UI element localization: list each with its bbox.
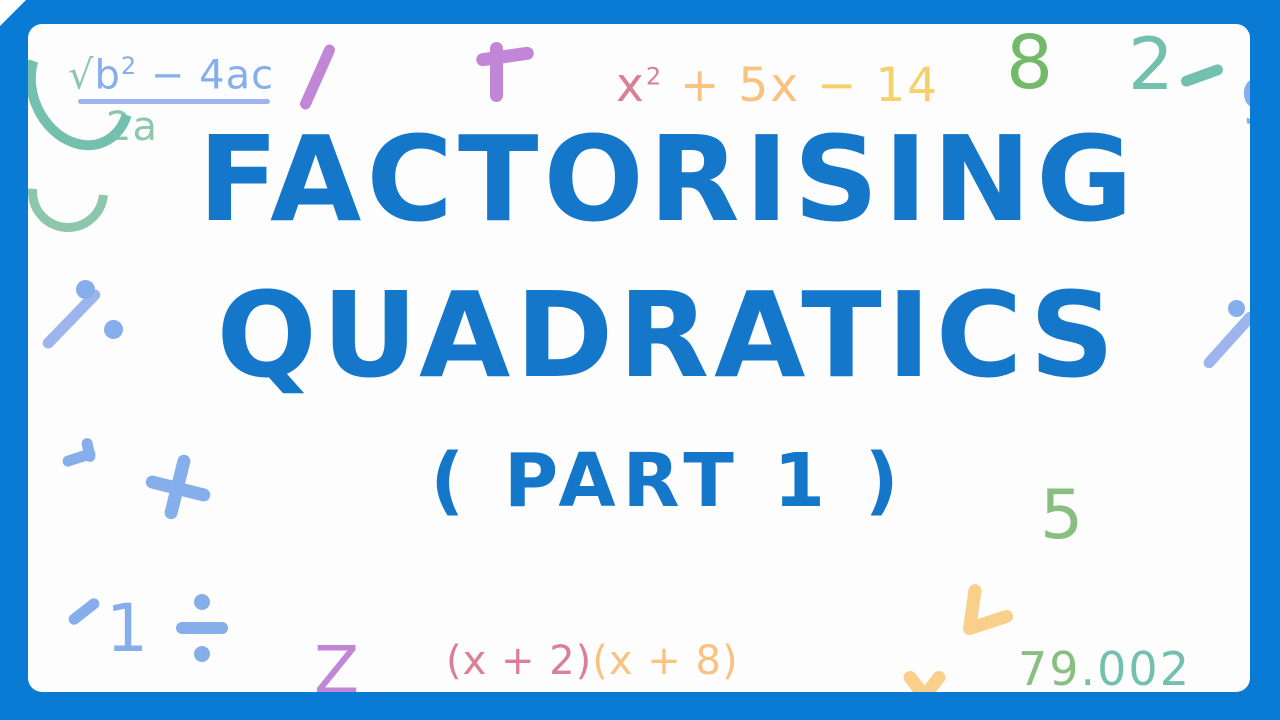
divide-icon-bar bbox=[176, 622, 228, 634]
numeral-zed-doodle: Z bbox=[314, 632, 359, 692]
quadratic-term-x: x bbox=[616, 58, 646, 113]
title-card-screen: √b2 − 4ac 2a x2 + 5x − 14 (x + 2)(x + 8)… bbox=[0, 0, 1280, 720]
arc-icon-right bbox=[28, 24, 154, 168]
numeral-eight-doodle: 8 bbox=[1006, 24, 1053, 106]
slash-mark-icon bbox=[298, 43, 337, 111]
numeral-five-doodle: 5 bbox=[1040, 476, 1083, 555]
plus-icon-vertical bbox=[163, 453, 192, 520]
percent-icon-left bbox=[40, 287, 102, 351]
corner-notch bbox=[0, 0, 26, 26]
chevron-icon-stroke-a bbox=[963, 583, 983, 632]
divide-icon-dot-top bbox=[194, 594, 210, 610]
decimal-number-doodle: 79.002 bbox=[1018, 642, 1191, 692]
hook-stroke-icon-a bbox=[61, 447, 97, 468]
factored-group-1: (x + 2) bbox=[446, 638, 592, 684]
title-line-2: QUADRATICS bbox=[28, 276, 1250, 394]
arc-icon-bottom-left bbox=[28, 136, 124, 249]
percent-icon-right bbox=[1201, 310, 1250, 371]
multiply-icon-stroke-a bbox=[901, 668, 948, 692]
formula-minus-4ac: − 4ac bbox=[137, 52, 274, 98]
decimal-fraction-part: .002 bbox=[1081, 642, 1191, 692]
percent-icon-right-dot-top bbox=[1228, 300, 1245, 317]
white-title-card: √b2 − 4ac 2a x2 + 5x − 14 (x + 2)(x + 8)… bbox=[28, 24, 1250, 692]
quadratic-term-x-exponent: 2 bbox=[646, 62, 663, 90]
quadratic-term-5x: + 5x bbox=[663, 58, 800, 113]
percent-icon-left-dot-bottom bbox=[104, 320, 123, 339]
quadratic-term-minus14: − 14 bbox=[800, 58, 939, 113]
hook-stroke-icon-b bbox=[81, 437, 97, 463]
hook-stroke-icon-c bbox=[66, 596, 101, 627]
tee-mark-crossbar-icon bbox=[475, 46, 534, 67]
tee-mark-icon bbox=[490, 42, 503, 102]
plus-icon-horizontal bbox=[144, 474, 211, 503]
percent-icon-left-dot-top bbox=[76, 280, 95, 299]
multiply-icon-stroke-b bbox=[901, 668, 948, 692]
doodle-layer: √b2 − 4ac 2a x2 + 5x − 14 (x + 2)(x + 8)… bbox=[28, 24, 1250, 232]
numeral-nine-doodle: 9 bbox=[1240, 66, 1250, 139]
divide-icon-dot-bottom bbox=[194, 646, 210, 662]
factored-group-2: (x + 8) bbox=[592, 638, 738, 684]
factored-expression-doodle: (x + 2)(x + 8) bbox=[446, 638, 739, 684]
decimal-whole-part: 79 bbox=[1018, 642, 1081, 692]
chevron-icon-stroke-b bbox=[961, 608, 1014, 636]
quadratic-expression-doodle: x2 + 5x − 14 bbox=[616, 58, 939, 113]
dash-stroke-icon-top-right bbox=[1179, 63, 1224, 88]
subtitle-part-label: ( PART 1 ) bbox=[28, 438, 1250, 524]
numeral-two-doodle: 2 bbox=[1128, 24, 1174, 106]
numeral-one-doodle: 1 bbox=[106, 590, 148, 667]
